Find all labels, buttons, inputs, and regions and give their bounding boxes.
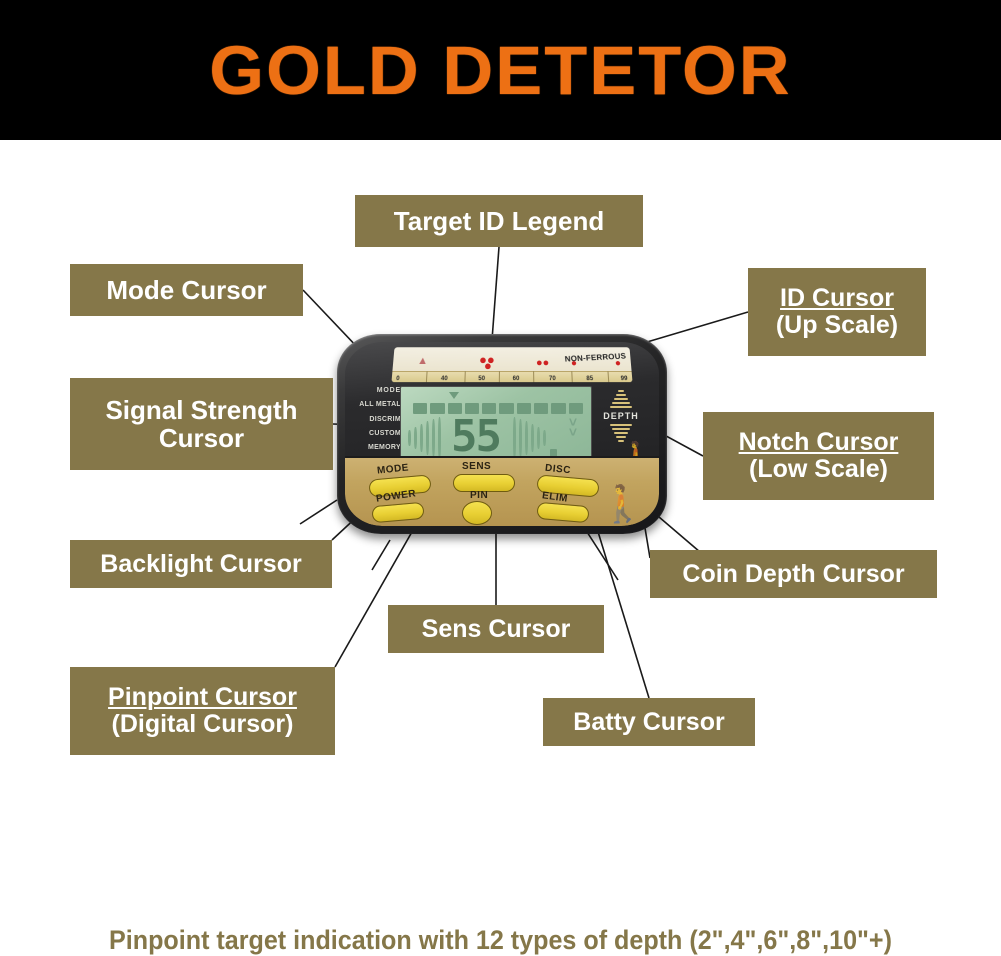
legend-divider	[464, 371, 465, 382]
callout-label-line2: (Low Scale)	[749, 456, 888, 483]
legend-coins-icon-3: ●●	[536, 358, 550, 369]
callout-label-line1: Backlight Cursor	[100, 551, 301, 578]
control-panel: MODE SENS DISC POWER PIN ELIM 🚶	[345, 456, 659, 526]
device-inner: ▲ ●● ● ●● ● ● NON-FERROUS 0 40	[345, 342, 659, 526]
callout-target-id-legend[interactable]: Target ID Legend	[355, 195, 643, 247]
target-id-legend-strip: ▲ ●● ● ●● ● ● NON-FERROUS 0 40	[391, 347, 632, 382]
mode-label-custom: CUSTOM	[351, 427, 401, 441]
callout-label-line1: Pinpoint Cursor	[108, 684, 297, 711]
lcd-signal-fan-right	[513, 417, 553, 459]
depth-bar	[614, 398, 628, 400]
lcd-top-segment	[517, 403, 531, 414]
legend-tick-0: 0	[396, 376, 400, 382]
depth-bar	[618, 390, 624, 392]
lcd-top-segment	[499, 403, 513, 414]
power-button[interactable]	[371, 502, 424, 523]
lcd-signal-fan-left	[408, 417, 448, 459]
header-banner: GOLD DETETOR	[0, 0, 1001, 140]
legend-divider	[533, 371, 534, 382]
callout-batty-cursor[interactable]: Batty Cursor	[543, 698, 755, 746]
mode-label-memory: MEMORY	[351, 441, 401, 455]
legend-divider	[571, 371, 572, 382]
legend-tick-40: 40	[441, 376, 448, 382]
callout-label-line1: Batty Cursor	[573, 709, 724, 736]
callout-notch-cursor[interactable]: Notch Cursor (Low Scale)	[703, 412, 934, 500]
callout-label-line1: Notch Cursor	[739, 429, 899, 456]
lcd-top-segment	[413, 403, 427, 414]
lcd-top-segment	[430, 403, 444, 414]
depth-bar	[610, 406, 632, 408]
legend-icon-row: ▲ ●● ● ●● ● ● NON-FERROUS	[393, 348, 632, 368]
callout-label-line2: (Up Scale)	[776, 312, 898, 339]
depth-bar	[612, 402, 630, 404]
depth-bar	[612, 428, 630, 430]
callout-label-line1: Mode Cursor	[106, 276, 266, 304]
mode-label-discrim: DISCRIM	[351, 413, 401, 427]
diagram-canvas: ▲ ●● ● ●● ● ● NON-FERROUS 0 40	[0, 140, 1001, 834]
legend-arrow-icon: ▲	[417, 356, 429, 367]
lcd-top-segment	[551, 403, 565, 414]
elim-button[interactable]	[536, 502, 589, 523]
callout-label-line1: Coin Depth Cursor	[682, 561, 904, 588]
lcd-top-segment	[534, 403, 548, 414]
legend-divider	[426, 371, 428, 382]
detector-device: ▲ ●● ● ●● ● ● NON-FERROUS 0 40	[337, 334, 667, 534]
pin-button[interactable]	[462, 501, 492, 525]
mode-label-mode: MODE	[351, 384, 401, 398]
legend-divider	[499, 371, 500, 382]
callout-label-line2: (Digital Cursor)	[112, 711, 294, 738]
legend-tick-99: 99	[621, 376, 628, 382]
lcd-arrow-marker-icon	[449, 392, 459, 399]
legend-tick-85: 85	[586, 376, 593, 382]
legend-tick-50: 50	[478, 376, 485, 382]
callout-label-line1: ID Cursor	[780, 285, 894, 312]
sens-button-label: SENS	[462, 461, 491, 472]
callout-backlight-cursor[interactable]: Backlight Cursor	[70, 540, 332, 588]
legend-divider	[607, 371, 609, 382]
mode-button-label: MODE	[377, 462, 410, 476]
callout-sens-cursor[interactable]: Sens Cursor	[388, 605, 604, 653]
lcd-chevron-icon: ˅˅	[569, 417, 577, 437]
callout-label-line1: Sens Cursor	[422, 616, 571, 643]
page-title: GOLD DETETOR	[209, 31, 791, 110]
leader-line-target-id-legend	[492, 247, 499, 340]
depth-column: DEPTH	[595, 390, 647, 442]
depth-bar	[614, 432, 628, 434]
callout-coin-depth-cursor[interactable]: Coin Depth Cursor	[650, 550, 937, 598]
depth-label: DEPTH	[595, 411, 647, 421]
leader-line-aux-1	[300, 500, 337, 524]
depth-bars-upper	[595, 390, 647, 408]
legend-tick-60: 60	[513, 376, 520, 382]
leader-line-aux-2	[372, 540, 390, 570]
callout-mode-cursor[interactable]: Mode Cursor	[70, 264, 303, 316]
mode-label-all-metal: ALL METAL	[351, 398, 401, 412]
lcd-top-segment	[569, 403, 583, 414]
lcd-target-id-value: 55	[451, 415, 500, 459]
callout-label-line2: Cursor	[159, 424, 244, 452]
pin-button-label: PIN	[470, 490, 488, 501]
callout-signal-strength-cursor[interactable]: Signal Strength Cursor	[70, 378, 333, 470]
detectorist-silhouette-icon: 🚶	[600, 486, 645, 522]
callout-label-line1: Signal Strength	[105, 396, 297, 424]
footer-caption: Pinpoint target indication with 12 types…	[35, 925, 966, 956]
callout-pinpoint-cursor[interactable]: Pinpoint Cursor (Digital Cursor)	[70, 667, 335, 755]
depth-bar	[616, 394, 626, 396]
legend-tick-70: 70	[549, 376, 556, 382]
callout-label-line1: Target ID Legend	[394, 207, 604, 235]
depth-bar	[616, 436, 626, 438]
depth-bar	[610, 424, 632, 426]
callout-id-cursor[interactable]: ID Cursor (Up Scale)	[748, 268, 926, 356]
legend-scale-bar: 0 40 50 60 70 85 99	[391, 371, 632, 382]
